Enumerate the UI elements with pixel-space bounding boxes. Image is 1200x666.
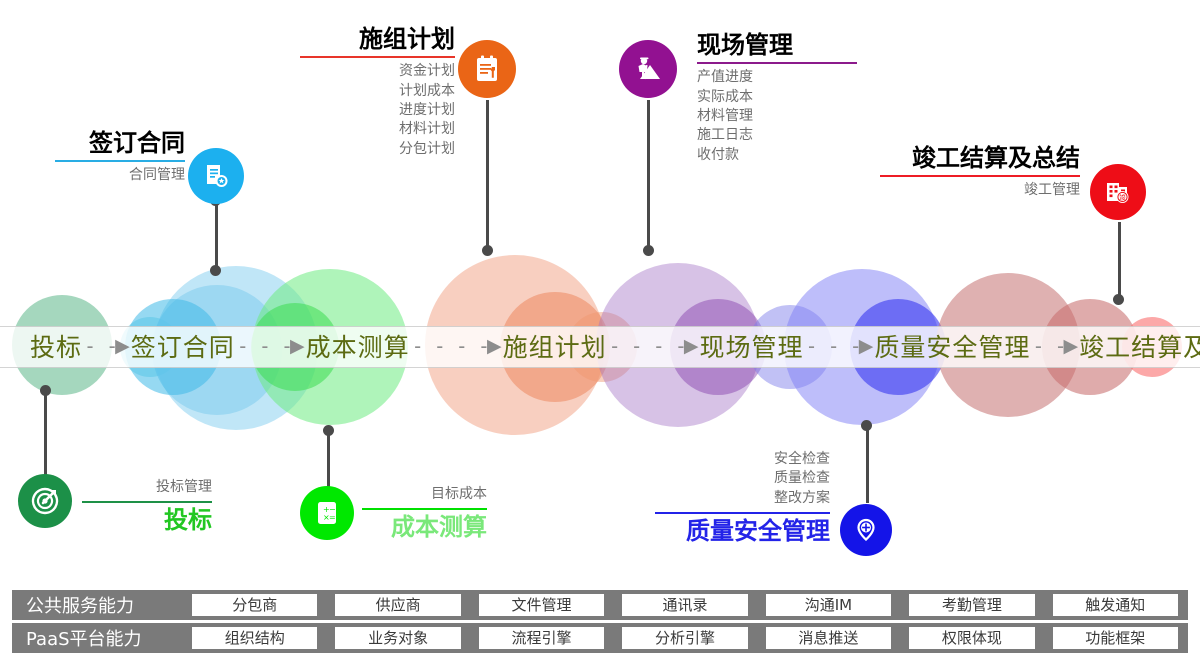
capability-cell[interactable]: 权限体现 [909,627,1034,649]
callout-title-toubiao: 投标 [82,507,212,533]
capability-cells: 分包商供应商文件管理通讯录沟通IM考勤管理触发通知 [192,594,1188,616]
callout-item: 资金计划 [300,62,455,81]
callout-item: 施工日志 [697,126,857,145]
callout-title-chengben: 成本测算 [362,514,487,540]
callout-item: 整改方案 [655,489,830,508]
capability-cell[interactable]: 考勤管理 [909,594,1034,616]
connector-dot-jungong-bottom [1113,294,1124,305]
svg-text:=: = [329,513,336,522]
contract-seal-icon[interactable] [188,148,244,204]
svg-text:竣: 竣 [1119,193,1126,202]
flow-step-1[interactable]: 投标 [30,328,82,364]
capability-cell[interactable]: 组织结构 [192,627,317,649]
capability-cell[interactable]: 业务对象 [335,627,460,649]
connector-dot-chengben-top [323,425,334,436]
connector-jungong [1118,222,1121,302]
callout-rule-zhiliang [655,512,830,514]
callout-zhiliang: 安全检查 质量检查 整改方案 质量安全管理 [655,450,830,544]
connector-dot-toubiao-top [40,385,51,396]
connector-toubiao [44,390,47,480]
connector-dot-qianding-bottom [210,265,221,276]
connector-qianding [215,202,218,272]
flow-step-4[interactable]: 施组计划 [503,328,607,364]
capability-row-public-service: 公共服务能力 分包商供应商文件管理通讯录沟通IM考勤管理触发通知 [12,590,1188,620]
capability-row-paas: PaaS平台能力 组织结构业务对象流程引擎分析引擎消息推送权限体现功能框架 [12,623,1188,653]
callout-title-shizu: 施组计划 [300,26,455,52]
callout-item: 竣工管理 [880,181,1080,200]
callout-toubiao: 投标管理 投标 [82,478,212,534]
flow-arrow-icon: - - -▶ [804,335,875,358]
capability-cell[interactable]: 分包商 [192,594,317,616]
infographic-stage: 投标- -▶签订合同- - -▶成本测算- - - -▶施组计划- - - -▶… [0,0,1200,666]
capability-cell[interactable]: 触发通知 [1053,594,1178,616]
callout-rule-xianchang [697,62,857,64]
flow-arrow-icon: - -▶ [82,335,131,358]
flow-step-3[interactable]: 成本测算 [306,328,410,364]
capability-cell[interactable]: 分析引擎 [622,627,747,649]
location-plus-icon[interactable] [840,504,892,556]
callout-shizu-jihua: 施组计划 资金计划 计划成本 进度计划 材料计划 分包计划 [300,26,455,159]
callout-item: 进度计划 [300,101,455,120]
capability-cell[interactable]: 供应商 [335,594,460,616]
flow-arrow-icon: - - - -▶ [607,335,700,358]
capability-row-label: 公共服务能力 [12,592,192,618]
capability-row-label: PaaS平台能力 [12,625,192,651]
dartboard-icon[interactable] [18,474,72,528]
callout-rule-toubiao [82,501,212,503]
process-flow-steps: 投标- -▶签订合同- - -▶成本测算- - - -▶施组计划- - - -▶… [0,326,1200,366]
callout-rule-jungong [880,175,1080,177]
capability-cell[interactable]: 功能框架 [1053,627,1178,649]
capability-cell[interactable]: 文件管理 [479,594,604,616]
capability-cell[interactable]: 通讯录 [622,594,747,616]
connector-dot-zhiliang-top [861,420,872,431]
flow-step-6[interactable]: 质量安全管理 [874,328,1030,364]
callout-qianding-hetong: 签订合同 合同管理 [55,130,185,186]
capability-cell[interactable]: 沟通IM [766,594,891,616]
flow-step-2[interactable]: 签订合同 [131,328,235,364]
callout-item: 材料管理 [697,107,857,126]
callout-item: 目标成本 [362,485,487,504]
callout-item: 投标管理 [82,478,212,497]
connector-dot-xianchang-bottom [643,245,654,256]
callout-title-qianding: 签订合同 [55,130,185,156]
callout-item: 计划成本 [300,82,455,101]
callout-item: 产值进度 [697,68,857,87]
callout-title-jungong: 竣工结算及总结 [880,145,1080,171]
callout-title-zhiliang: 质量安全管理 [655,518,830,544]
callout-item: 质量检查 [655,469,830,488]
connector-chengben [327,430,330,488]
callout-item: 收付款 [697,146,857,165]
callout-item: 材料计划 [300,120,455,139]
connector-zhiliang [866,425,869,503]
callout-item: 安全检查 [655,450,830,469]
callout-xianchang-guanli: 现场管理 产值进度 实际成本 材料管理 施工日志 收付款 [697,32,857,165]
clipboard-wrench-icon[interactable] [458,40,516,98]
calculator-icon[interactable]: + − × = [300,486,354,540]
connector-dot-shizu-bottom [482,245,493,256]
callout-rule-chengben [362,508,487,510]
flow-arrow-icon: - -▶ [1030,335,1079,358]
callout-item: 实际成本 [697,88,857,107]
flow-arrow-icon: - - - -▶ [410,335,503,358]
connector-xianchang [647,100,650,252]
callout-rule-shizu [300,56,455,58]
callout-jungong: 竣工结算及总结 竣工管理 [880,145,1080,201]
flow-step-7[interactable]: 竣工结算及总结 [1079,328,1200,364]
callout-item: 分包计划 [300,140,455,159]
callout-rule-qianding [55,160,185,162]
callout-title-xianchang: 现场管理 [697,32,857,58]
flow-arrow-icon: - - -▶ [235,335,306,358]
worker-icon[interactable] [619,40,677,98]
connector-shizu [486,100,489,252]
callout-chengben: 目标成本 成本测算 [362,485,487,541]
capability-cells: 组织结构业务对象流程引擎分析引擎消息推送权限体现功能框架 [192,627,1188,649]
capability-cell[interactable]: 流程引擎 [479,627,604,649]
flow-step-5[interactable]: 现场管理 [700,328,804,364]
building-stamp-icon[interactable]: 竣 [1090,164,1146,220]
capability-cell[interactable]: 消息推送 [766,627,891,649]
callout-item: 合同管理 [55,166,185,185]
